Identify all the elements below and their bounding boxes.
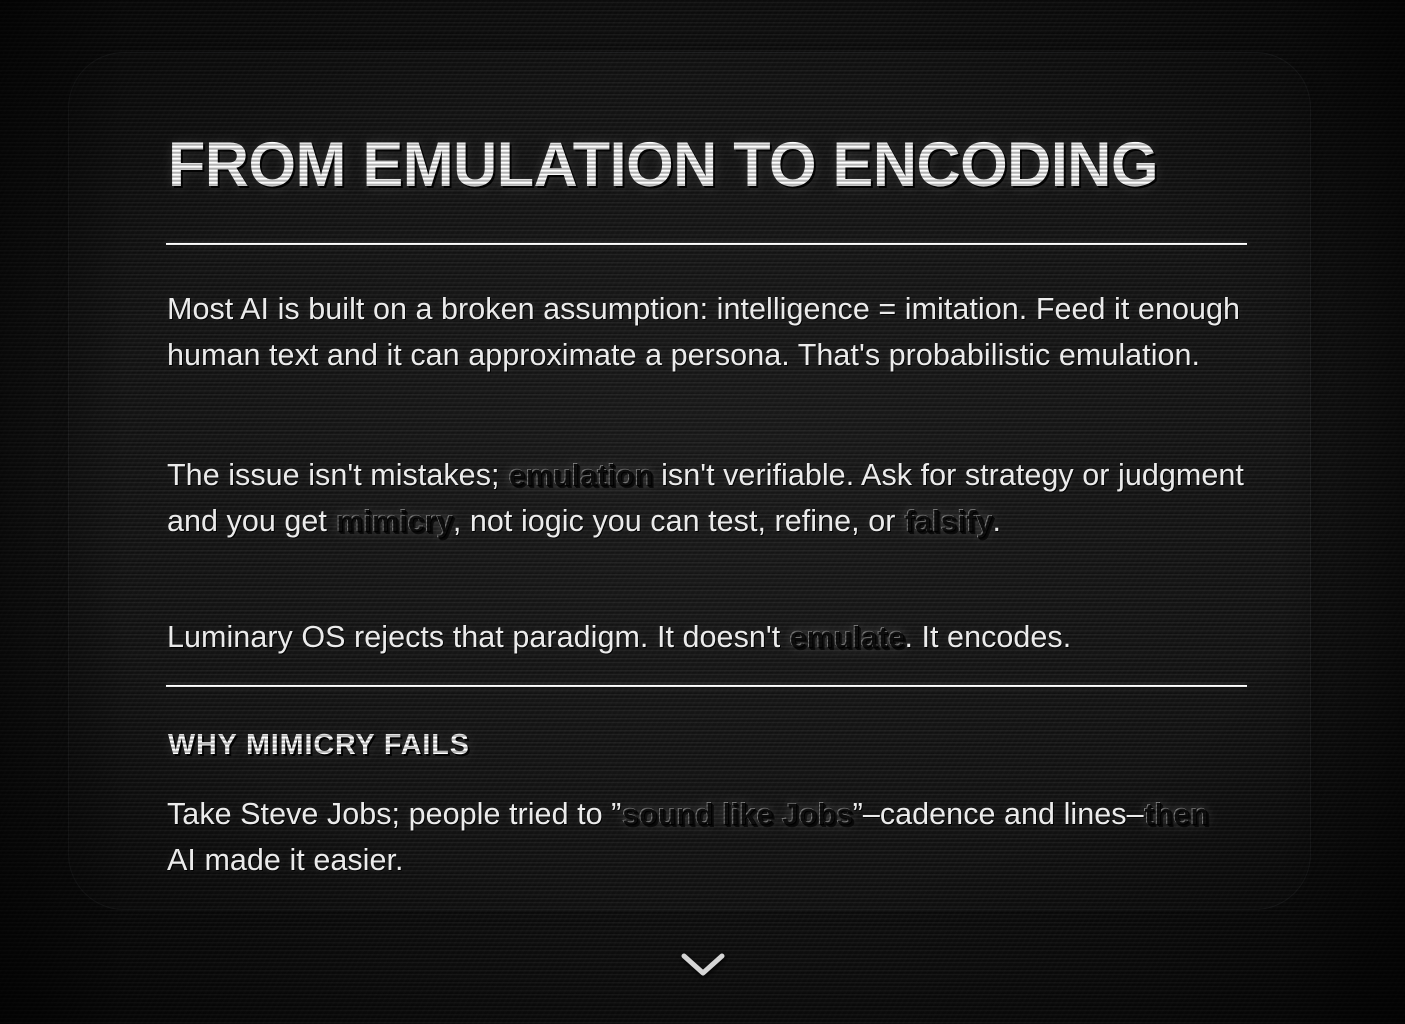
section-heading: Why Mimicry Fails — [168, 729, 470, 762]
chevron-down-icon — [680, 952, 726, 978]
emphasis-text: mimicry — [335, 504, 452, 538]
slide-canvas: From Emulation to Encoding Most AI is bu… — [0, 0, 1405, 1024]
emphasis-text: sound like Jobs — [621, 797, 852, 831]
body-paragraph-1: Most AI is built on a broken assumption:… — [167, 286, 1252, 378]
body-paragraph-3: Luminary OS rejects that paradigm. It do… — [167, 614, 1277, 660]
page-title: From Emulation to Encoding — [168, 134, 1158, 197]
scroll-down-indicator[interactable] — [0, 945, 1405, 985]
divider-bottom — [166, 685, 1247, 687]
body-paragraph-2: The issue isn't mistakes; emulation isn'… — [167, 452, 1277, 544]
emphasis-text: emulation — [508, 458, 653, 492]
slide-content: From Emulation to Encoding Most AI is bu… — [166, 0, 1247, 1024]
emphasis-text: falsify — [904, 504, 993, 538]
emphasis-text: emulate — [789, 620, 905, 654]
section-paragraph: Take Steve Jobs; people tried to ”sound … — [167, 791, 1227, 883]
divider-top — [166, 243, 1247, 245]
emphasis-text: then — [1144, 797, 1209, 831]
